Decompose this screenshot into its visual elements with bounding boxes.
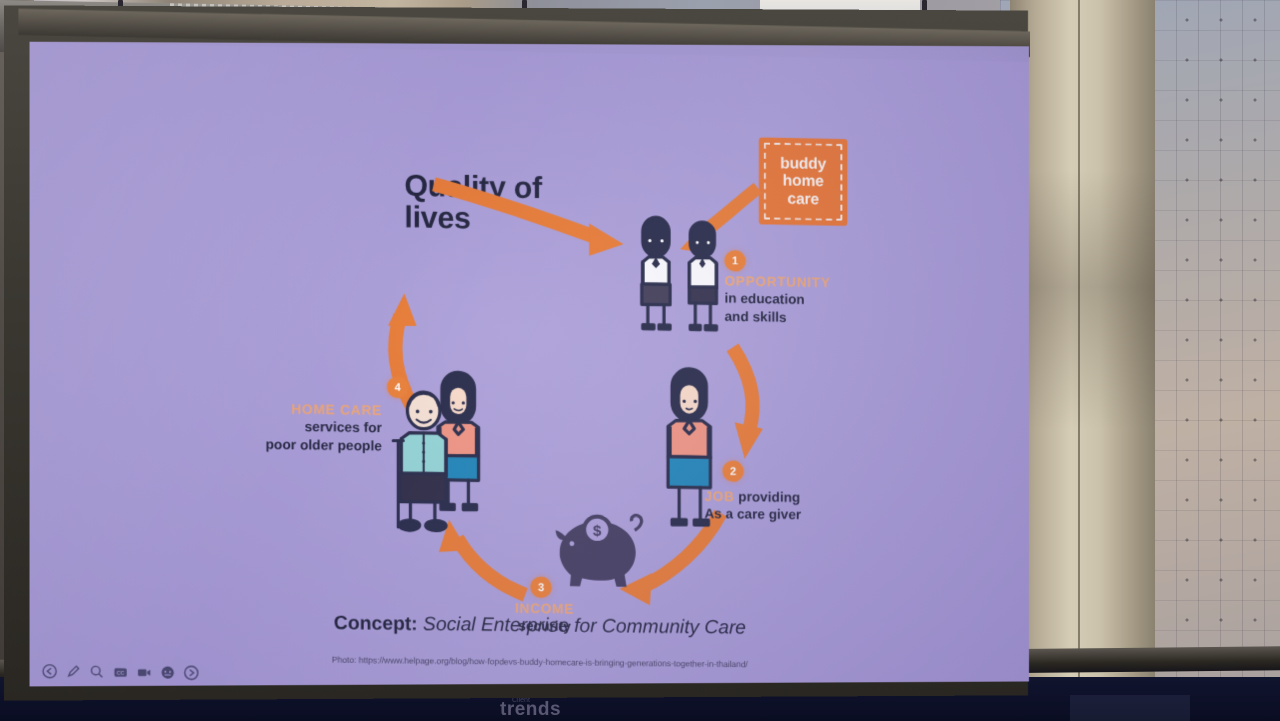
closed-caption-icon[interactable]: CC: [113, 664, 128, 679]
step-detail-2: As a care giver: [704, 505, 855, 524]
arrow-income-to-home-care: [439, 520, 525, 595]
screenshot-root: Client trends Quality of lives buddy hom…: [0, 0, 1280, 721]
banner-text: trends: [500, 699, 561, 721]
forward-arrow-icon[interactable]: [184, 665, 199, 680]
step-number-1: 1: [725, 250, 746, 272]
column-shadow: [1010, 170, 1155, 430]
step-detail-1: in education and skills: [725, 290, 856, 327]
page-title: Quality of lives: [404, 171, 637, 237]
logo-line-1: buddy: [780, 154, 826, 173]
back-arrow-icon[interactable]: [42, 664, 57, 680]
logo-line-2: home: [780, 172, 826, 191]
svg-text:CC: CC: [117, 671, 125, 677]
buddy-home-care-logo: buddy home care: [759, 137, 848, 226]
step-label-4: HOME CARE services for poor older people: [231, 400, 382, 455]
arrow-opportunity-to-job: [733, 347, 763, 459]
step-caption-2: JOB: [704, 489, 734, 505]
step-number-3: 3: [530, 577, 551, 599]
two-school-children-icon: [642, 217, 717, 330]
step-detail-inline-2: providing: [734, 489, 800, 505]
logo-line-3: care: [780, 190, 826, 209]
arrow-logo-to-opportunity: [680, 187, 758, 255]
older-man-and-carer-icon: [393, 371, 478, 531]
search-icon[interactable]: [89, 664, 104, 679]
presentation-slide: Quality of lives buddy home care: [30, 42, 1029, 687]
caption-italic: Social Enterprise for Community Care: [418, 614, 746, 639]
step-caption-4: HOME CARE: [231, 400, 382, 420]
logo-text: buddy home care: [780, 154, 826, 208]
banner-side-box: [1070, 695, 1190, 721]
screen-surface: Quality of lives buddy home care: [30, 42, 1029, 687]
step-number-2: 2: [723, 461, 744, 483]
step-label-2: JOB providing As a care giver: [704, 488, 855, 525]
led-screen: Quality of lives buddy home care: [30, 42, 1029, 687]
chat-icon[interactable]: [160, 665, 175, 680]
cycle-diagram: $: [30, 42, 1029, 687]
caption-bold: Concept:: [334, 613, 418, 635]
led-display-bezel: Quality of lives buddy home care: [4, 5, 1028, 700]
svg-text:$: $: [593, 523, 602, 540]
pen-icon[interactable]: [66, 664, 81, 679]
player-toolbar[interactable]: CC: [42, 664, 199, 681]
slide-caption: Concept: Social Enterprise for Community…: [30, 609, 1029, 643]
step-number-4: 4: [387, 376, 408, 398]
step-caption-1: OPPORTUNITY: [725, 273, 831, 290]
video-icon[interactable]: [136, 665, 151, 680]
step-detail-4: services for poor older people: [231, 417, 382, 454]
step-label-1: OPPORTUNITY in education and skills: [725, 272, 856, 327]
arrow-job-to-income: [619, 512, 720, 606]
piggy-bank-icon: $: [556, 514, 642, 587]
